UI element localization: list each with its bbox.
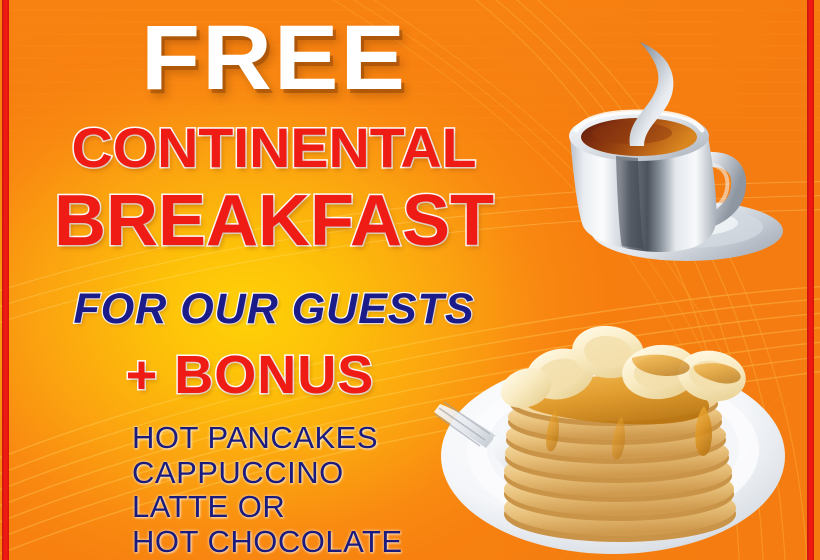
list-item: HOT CHOCOLATE xyxy=(132,525,403,560)
promotional-poster: FREE CONTINENTAL BREAKFAST FOR OUR GUEST… xyxy=(0,0,820,560)
list-item: CAPPUCCINO xyxy=(132,456,403,491)
list-item: LATTE OR xyxy=(132,490,403,525)
subline-for-our-guests: FOR OUR GUESTS xyxy=(0,288,548,331)
headline-breakfast: BREAKFAST xyxy=(0,185,548,257)
headline-free: FREE xyxy=(0,12,562,104)
coffee-cup-icon xyxy=(552,18,802,288)
bonus-item-list: HOT PANCAKES CAPPUCCINO LATTE OR HOT CHO… xyxy=(132,421,403,560)
right-red-border xyxy=(807,0,814,560)
list-item: HOT PANCAKES xyxy=(132,421,403,456)
headline-continental: CONTINENTAL xyxy=(0,120,553,176)
subline-bonus: + BONUS xyxy=(0,348,500,402)
left-red-border xyxy=(2,0,9,560)
